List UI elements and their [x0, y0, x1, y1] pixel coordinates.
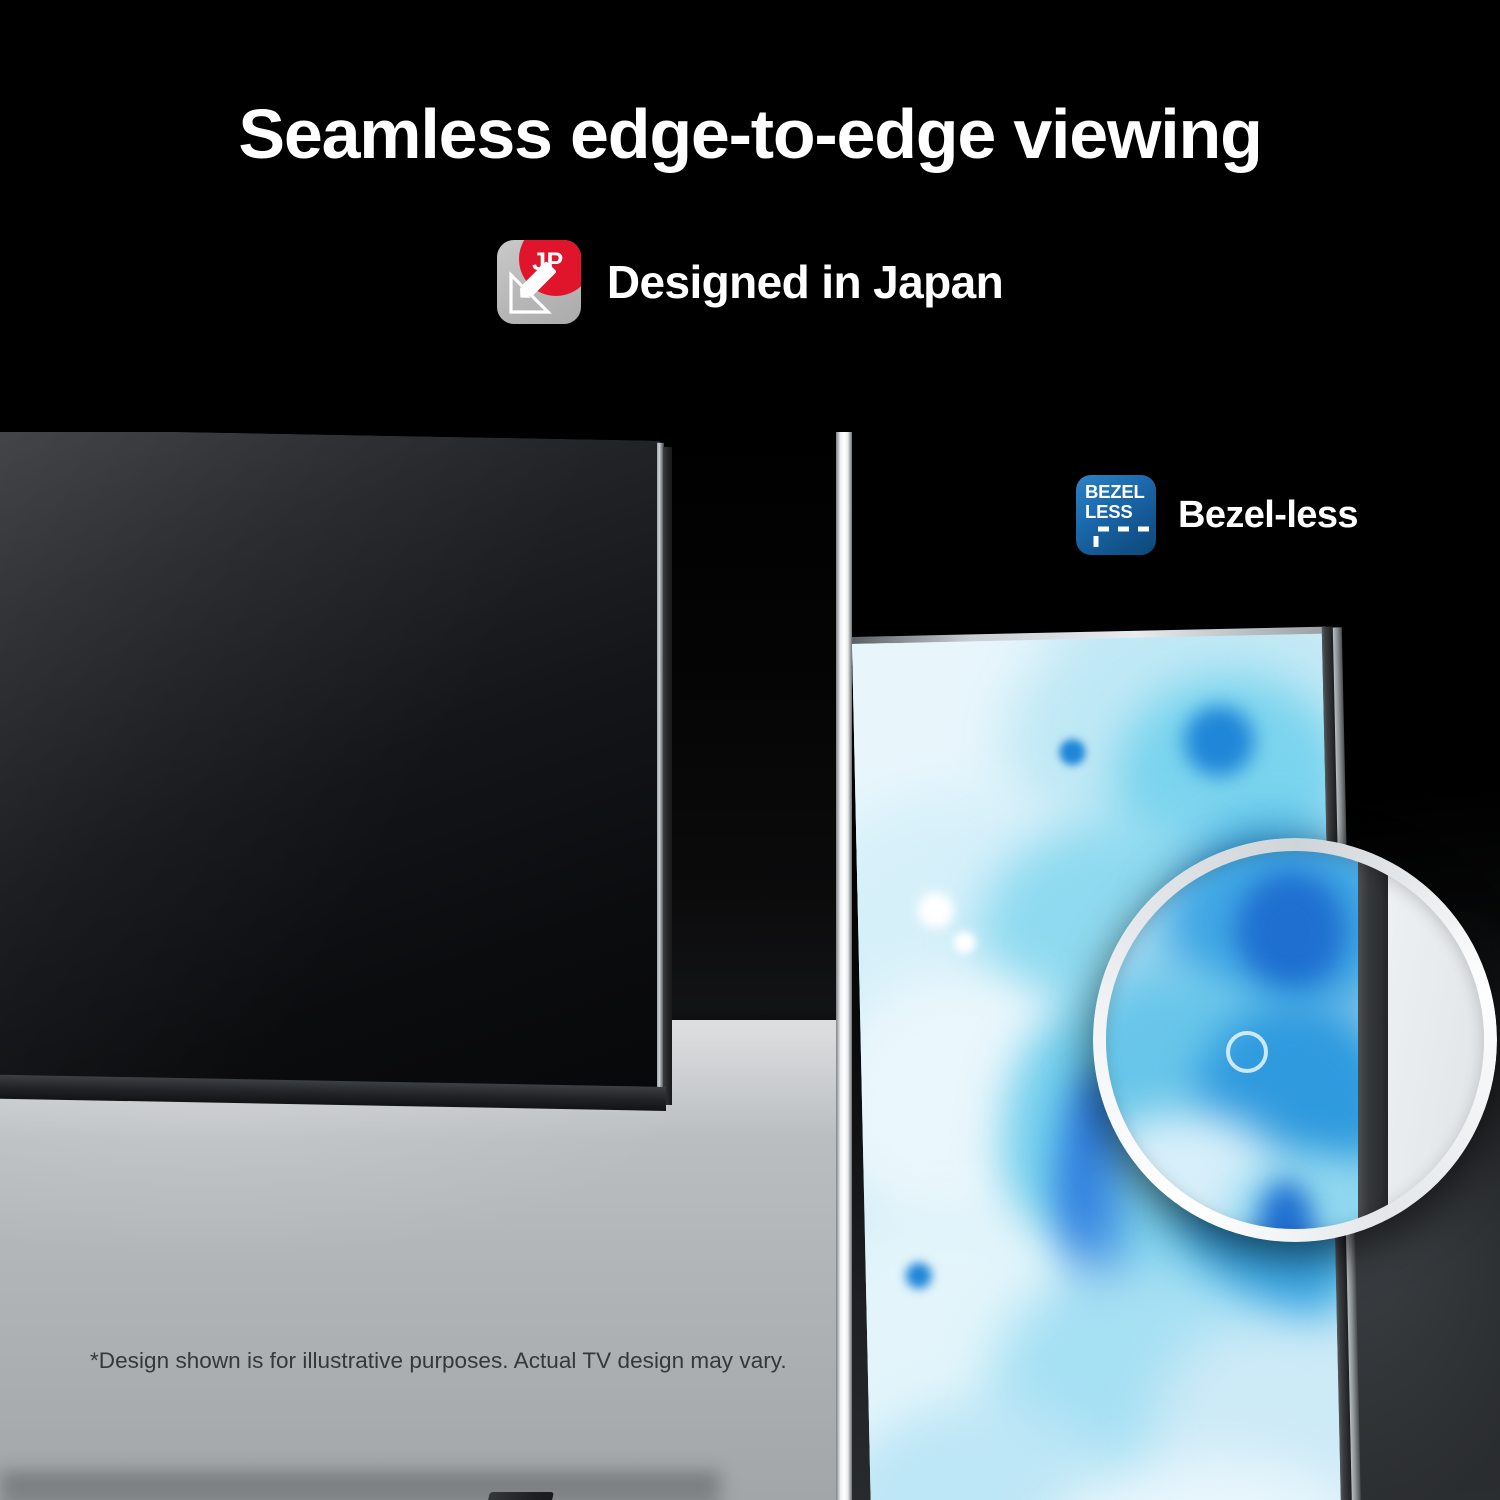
footnote-text: *Design shown is for illustrative purpos… [90, 1348, 787, 1374]
panel-divider [836, 432, 852, 1500]
tv-screen [0, 432, 660, 1105]
designed-in-japan-label: Designed in Japan [607, 255, 1003, 309]
lens-side-surface [1388, 851, 1484, 1229]
header-section: Seamless edge-to-edge viewing JP Designe… [0, 0, 1500, 432]
designed-in-japan-icon: JP [497, 240, 581, 324]
bezel-less-icon: BEZEL LESS [1076, 475, 1156, 555]
tv-cast-shadow [0, 1472, 720, 1500]
product-feature-banner: Seamless edge-to-edge viewing JP Designe… [0, 0, 1500, 1500]
pencil-ruler-icon [506, 255, 568, 317]
lens-viewport [1106, 851, 1484, 1229]
bezel-zoom-lens [1093, 838, 1497, 1242]
page-title: Seamless edge-to-edge viewing [0, 98, 1500, 172]
lens-bezel-line [1358, 851, 1388, 1229]
tv-body [0, 432, 702, 1114]
bezel-less-row: BEZEL LESS Bezel-less [1076, 470, 1358, 560]
left-product-photo [0, 432, 842, 1500]
bezel-less-label: Bezel-less [1178, 494, 1358, 537]
lens-artwork [1106, 851, 1358, 1229]
designed-in-japan-row: JP Designed in Japan [0, 236, 1500, 328]
dashed-corner-icon [1076, 475, 1156, 555]
tv-right-edge-dark [663, 447, 672, 1105]
